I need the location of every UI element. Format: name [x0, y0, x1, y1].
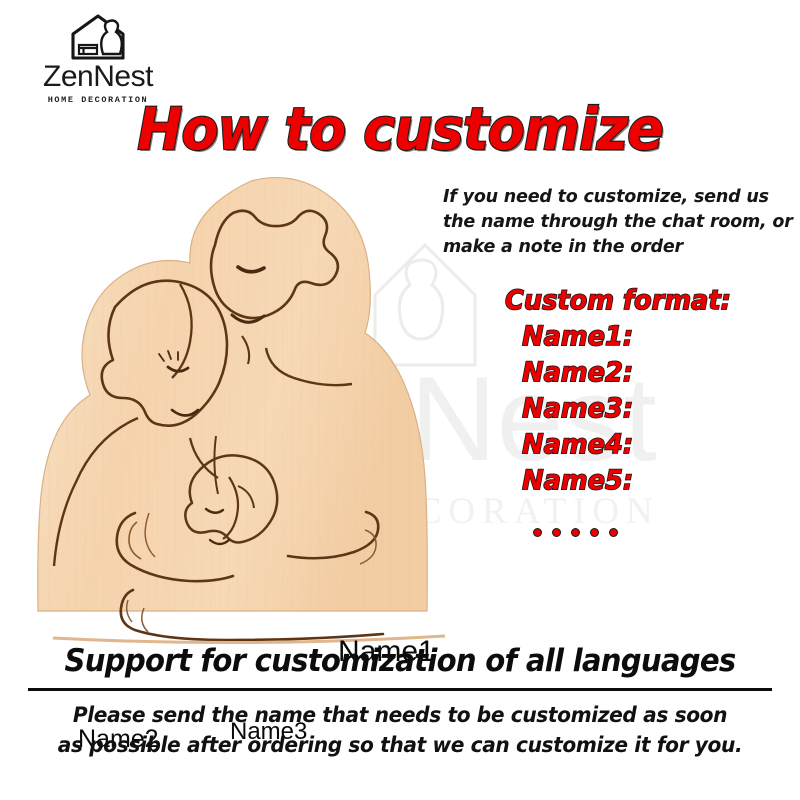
ellipsis-dot — [590, 528, 599, 537]
family-puzzle-svg — [20, 168, 480, 660]
ellipsis-dot — [609, 528, 618, 537]
family-puzzle-image: Name1 Name2 Name3 — [20, 168, 480, 660]
ellipsis-dot — [533, 528, 542, 537]
ellipsis-dot — [571, 528, 580, 537]
custom-format-item-3: Name3: — [505, 391, 781, 427]
custom-format-item-4: Name4: — [505, 427, 781, 463]
page-title: How to customize — [28, 100, 772, 158]
ellipsis-dots — [533, 528, 618, 537]
custom-format-heading: Custom format: — [505, 283, 781, 319]
footer-body-line2: as possible after ordering so that we ca… — [16, 730, 784, 760]
custom-format-block: Custom format: Name1: Name2: Name3: Name… — [505, 283, 795, 498]
footer-underline — [28, 688, 772, 691]
footer-body-line1: Please send the name that needs to be cu… — [16, 700, 784, 730]
custom-format-item-1: Name1: — [505, 319, 781, 355]
ellipsis-dot — [552, 528, 561, 537]
custom-format-item-5: Name5: — [505, 463, 781, 499]
custom-format-item-2: Name2: — [505, 355, 781, 391]
footer-body: Please send the name that needs to be cu… — [16, 700, 784, 760]
brand-logo: ZenNest HOME DECORATION — [18, 12, 178, 105]
promo-page: ZenNest HOME DECORATION ZenNest HOME DEC… — [0, 0, 800, 800]
house-with-sofa-and-vase-icon — [59, 12, 137, 64]
footer-headline: Support for customization of all languag… — [24, 643, 776, 679]
customize-instruction-note: If you need to customize, send us the na… — [443, 185, 795, 260]
brand-name: ZenNest — [18, 62, 178, 92]
